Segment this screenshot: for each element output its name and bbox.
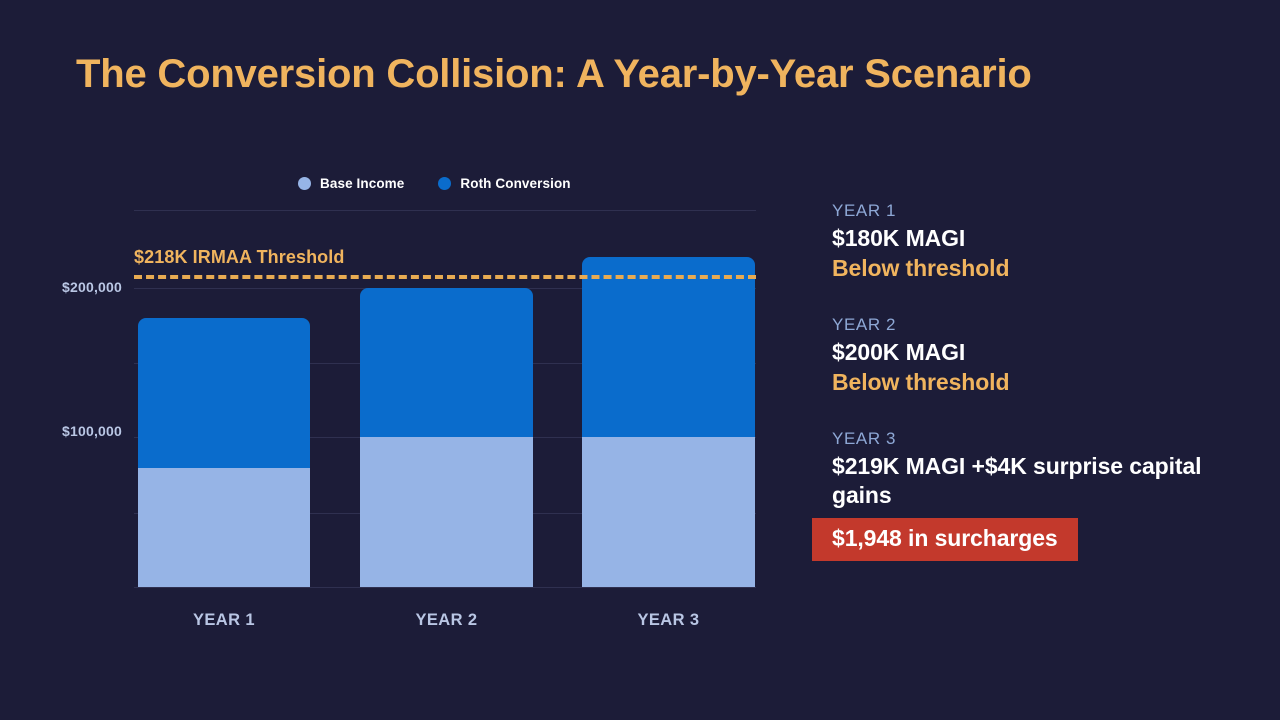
scenario-kicker-year-3: YEAR 3 bbox=[832, 428, 1232, 449]
stacked-bar-chart: $200,000 $100,000 $218K IRMAA Threshold … bbox=[0, 0, 800, 720]
y-axis-tick-200k: $200,000 bbox=[22, 279, 122, 295]
gridline-baseline bbox=[134, 587, 756, 588]
bar-segment-base-income-year-3[interactable] bbox=[582, 437, 755, 587]
slide-root: The Conversion Collision: A Year-by-Year… bbox=[0, 0, 1280, 720]
x-axis-tick-year-2: YEAR 2 bbox=[360, 611, 533, 630]
scenario-magi-year-3: $219K MAGI +$4K surprise capital gains bbox=[832, 452, 1232, 510]
bar-year-2[interactable] bbox=[360, 288, 533, 587]
bar-segment-base-income-year-1[interactable] bbox=[138, 468, 310, 587]
scenario-status-year-1: Below threshold bbox=[832, 254, 1232, 284]
scenario-block-year-1: YEAR 1 $180K MAGI Below threshold bbox=[832, 200, 1232, 284]
bar-segment-base-income-year-2[interactable] bbox=[360, 437, 533, 587]
scenario-block-year-2: YEAR 2 $200K MAGI Below threshold bbox=[832, 314, 1232, 398]
gridline-top bbox=[134, 210, 756, 211]
status-badge-surcharges: $1,948 in surcharges bbox=[812, 518, 1078, 561]
x-axis-tick-year-3: YEAR 3 bbox=[582, 611, 755, 630]
y-axis-tick-100k: $100,000 bbox=[22, 423, 122, 439]
scenario-block-year-3: YEAR 3 $219K MAGI +$4K surprise capital … bbox=[832, 428, 1232, 561]
bar-segment-roth-conversion-year-3[interactable] bbox=[582, 257, 755, 437]
bar-year-3[interactable] bbox=[582, 257, 755, 587]
bar-year-1[interactable] bbox=[138, 318, 310, 587]
bar-segment-roth-conversion-year-1[interactable] bbox=[138, 318, 310, 468]
scenario-kicker-year-2: YEAR 2 bbox=[832, 314, 1232, 335]
scenario-status-year-2: Below threshold bbox=[832, 368, 1232, 398]
irmaa-threshold-line bbox=[134, 275, 756, 279]
scenario-panel: YEAR 1 $180K MAGI Below threshold YEAR 2… bbox=[832, 200, 1232, 561]
scenario-magi-year-2: $200K MAGI bbox=[832, 338, 1232, 367]
scenario-kicker-year-1: YEAR 1 bbox=[832, 200, 1232, 221]
x-axis-tick-year-1: YEAR 1 bbox=[138, 611, 310, 630]
scenario-magi-year-1: $180K MAGI bbox=[832, 224, 1232, 253]
bar-segment-roth-conversion-year-2[interactable] bbox=[360, 288, 533, 437]
irmaa-threshold-label: $218K IRMAA Threshold bbox=[134, 247, 344, 268]
